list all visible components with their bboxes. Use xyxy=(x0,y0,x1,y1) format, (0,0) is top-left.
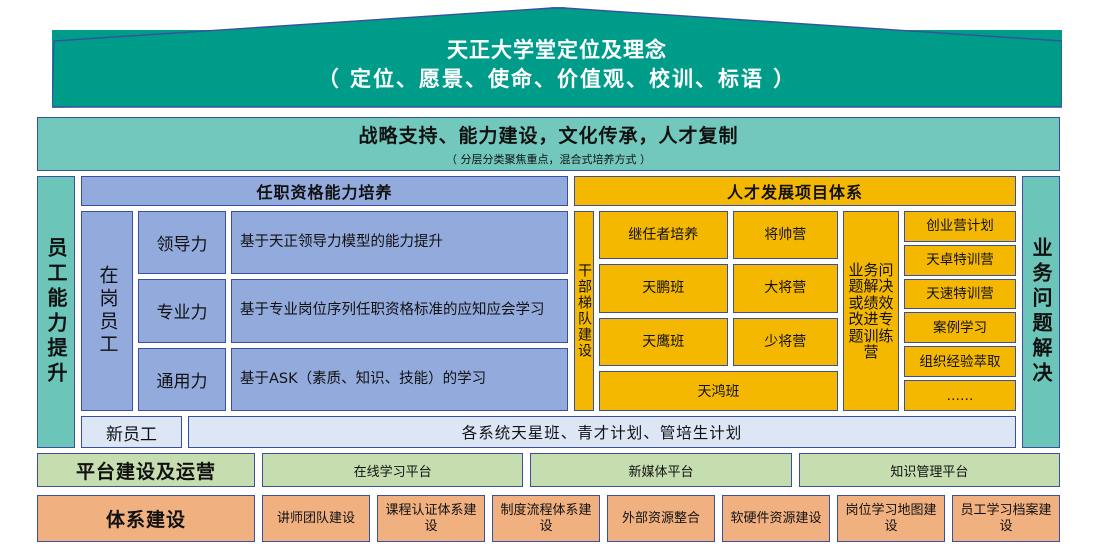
system-item[interactable]: 课程认证体系建设 xyxy=(377,495,485,542)
competency-row[interactable]: 专业力 基于专业岗位序列任职资格标准的应知应会学习 xyxy=(138,279,568,342)
cadre-item[interactable]: 继任者培养 xyxy=(599,211,728,259)
competency-name: 专业力 xyxy=(138,279,226,342)
cadre-column-a: 继任者培养 天鹏班 天鹰班 xyxy=(599,211,728,366)
talent-development-body: 干部梯队建设 继任者培养 天鹏班 天鹰班 将帅营 xyxy=(574,211,1016,411)
competency-name: 领导力 xyxy=(138,211,226,274)
qualification-body: 在岗员工 领导力 基于天正领导力模型的能力提升 专业力 基于专业岗位序列任职资格… xyxy=(81,211,568,411)
system-item[interactable]: 员工学习档案建设 xyxy=(952,495,1060,542)
right-pillar-business-problem: 业务问题解决 xyxy=(1022,176,1060,448)
platform-main-label: 平台建设及运营 xyxy=(37,453,255,487)
cadre-pipeline-label: 干部梯队建设 xyxy=(577,263,591,359)
cadre-item[interactable]: 少将营 xyxy=(733,318,838,366)
system-item[interactable]: 岗位学习地图建设 xyxy=(837,495,945,542)
system-item[interactable]: 外部资源整合 xyxy=(607,495,715,542)
system-item[interactable]: 制度流程体系建设 xyxy=(492,495,600,542)
competency-name: 通用力 xyxy=(138,348,226,411)
platform-item[interactable]: 知识管理平台 xyxy=(799,453,1060,487)
platform-item[interactable]: 在线学习平台 xyxy=(262,453,523,487)
strategy-band-sub: （ 分层分类聚焦重点，混合式培养方式 ） xyxy=(446,151,651,167)
competency-desc: 基于专业岗位序列任职资格标准的应知应会学习 xyxy=(231,279,568,342)
misc-program-item[interactable]: 天速特训营 xyxy=(904,279,1016,310)
competency-row[interactable]: 通用力 基于ASK（素质、知识、技能）的学习 xyxy=(138,348,568,411)
cadre-program-grid: 继任者培养 天鹏班 天鹰班 将帅营 大将营 少将营 天鸿班 xyxy=(599,211,838,411)
competency-row[interactable]: 领导力 基于天正领导力模型的能力提升 xyxy=(138,211,568,274)
strategy-band: 战略支持、能力建设，文化传承，人才复制 （ 分层分类聚焦重点，混合式培养方式 ） xyxy=(37,117,1060,171)
system-main-label: 体系建设 xyxy=(37,495,255,542)
misc-program-item[interactable]: 创业营计划 xyxy=(904,211,1016,242)
business-problem-training-label: 业务问题解决或绩效改进专题训练营 xyxy=(847,262,895,361)
qualification-header: 任职资格能力培养 xyxy=(81,176,568,206)
competency-rows: 领导力 基于天正领导力模型的能力提升 专业力 基于专业岗位序列任职资格标准的应知… xyxy=(138,211,568,411)
onjob-employee-column: 在岗员工 xyxy=(81,211,133,411)
center-top-panels: 任职资格能力培养 在岗员工 领导力 基于天正领导力模型的能力提升 专业力 xyxy=(81,176,1016,411)
left-pillar-label: 员工能力提升 xyxy=(46,237,66,387)
roof-title-line2: （ 定位、愿景、使命、价值观、校训、标语 ） xyxy=(52,65,1062,94)
right-pillar-label: 业务问题解决 xyxy=(1031,237,1051,387)
misc-program-item[interactable]: 组织经验萃取 xyxy=(904,346,1016,377)
platform-item[interactable]: 新媒体平台 xyxy=(530,453,791,487)
cadre-column-b: 将帅营 大将营 少将营 xyxy=(733,211,838,366)
new-employee-row: 新员工 各系统天星班、青才计划、管培生计划 xyxy=(81,416,1016,448)
misc-program-item-ellipsis[interactable]: …… xyxy=(904,380,1016,411)
competency-desc: 基于天正领导力模型的能力提升 xyxy=(231,211,568,274)
talent-development-header: 人才发展项目体系 xyxy=(574,176,1016,206)
roof-title-block: 天正大学堂定位及理念 （ 定位、愿景、使命、价值观、校训、标语 ） xyxy=(52,36,1062,94)
cadre-item[interactable]: 大将营 xyxy=(733,264,838,312)
cadre-pipeline-column: 干部梯队建设 xyxy=(574,211,594,411)
qualification-panel: 任职资格能力培养 在岗员工 领导力 基于天正领导力模型的能力提升 专业力 xyxy=(81,176,568,411)
center-stack: 任职资格能力培养 在岗员工 领导力 基于天正领导力模型的能力提升 专业力 xyxy=(81,176,1016,448)
strategy-band-main: 战略支持、能力建设，文化传承，人才复制 xyxy=(358,121,738,148)
cadre-program-columns: 继任者培养 天鹏班 天鹰班 将帅营 大将营 少将营 xyxy=(599,211,838,366)
system-construction-row: 体系建设 讲师团队建设 课程认证体系建设 制度流程体系建设 外部资源整合 软硬件… xyxy=(37,495,1060,542)
main-body: 员工能力提升 任职资格能力培养 在岗员工 领导力 基于天正领导力模型的能力提升 xyxy=(37,176,1060,448)
cadre-item[interactable]: 天鹏班 xyxy=(599,264,728,312)
talent-development-panel: 人才发展项目体系 干部梯队建设 继任者培养 天鹏班 天鹰班 xyxy=(574,176,1016,411)
left-pillar-employee-capability: 员工能力提升 xyxy=(37,176,75,448)
system-item[interactable]: 讲师团队建设 xyxy=(262,495,370,542)
platform-row: 平台建设及运营 在线学习平台 新媒体平台 知识管理平台 xyxy=(37,453,1060,487)
pyramid-framework-diagram: 天正大学堂定位及理念 （ 定位、愿景、使命、价值观、校训、标语 ） 战略支持、能… xyxy=(0,0,1114,551)
misc-program-item[interactable]: 天卓特训营 xyxy=(904,245,1016,276)
new-employee-tag[interactable]: 新员工 xyxy=(81,416,182,448)
cadre-item[interactable]: 将帅营 xyxy=(733,211,838,259)
new-employee-programs: 各系统天星班、青才计划、管培生计划 xyxy=(188,416,1016,448)
roof-title-line1: 天正大学堂定位及理念 xyxy=(52,36,1062,65)
onjob-employee-label: 在岗员工 xyxy=(98,265,117,357)
cadre-item[interactable]: 天鹰班 xyxy=(599,318,728,366)
business-problem-training-column: 业务问题解决或绩效改进专题训练营 xyxy=(843,211,899,411)
roof-banner: 天正大学堂定位及理念 （ 定位、愿景、使命、价值观、校训、标语 ） xyxy=(52,6,1062,110)
competency-desc: 基于ASK（素质、知识、技能）的学习 xyxy=(231,348,568,411)
system-item[interactable]: 软硬件资源建设 xyxy=(722,495,830,542)
misc-program-list: 创业营计划 天卓特训营 天速特训营 案例学习 组织经验萃取 …… xyxy=(904,211,1016,411)
misc-program-item[interactable]: 案例学习 xyxy=(904,312,1016,343)
cadre-item-wide[interactable]: 天鸿班 xyxy=(599,371,838,411)
